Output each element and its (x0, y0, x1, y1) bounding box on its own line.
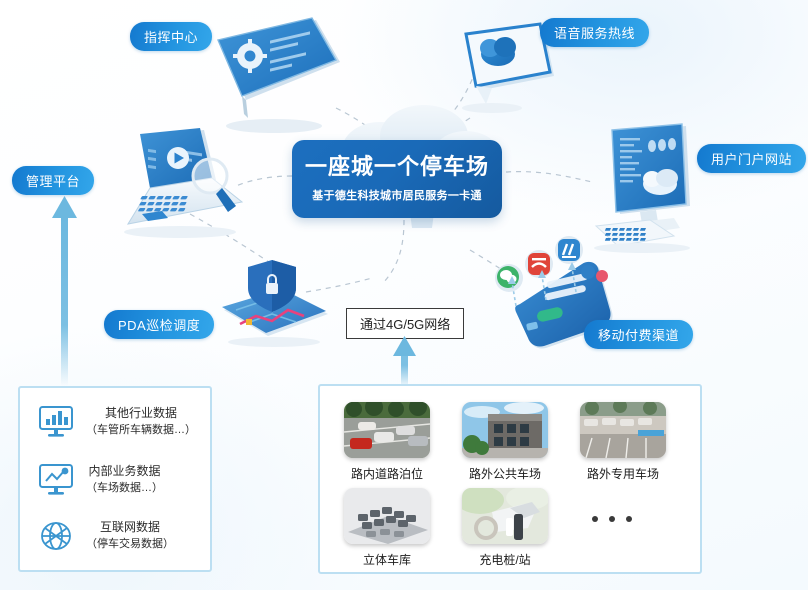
private-lot-photo (580, 402, 666, 458)
scene-caption: 路外公共车场 (462, 465, 548, 482)
laptop-magnifier-device (92, 128, 256, 242)
scene-caption: 路外专用车场 (580, 465, 666, 482)
label-mobile-payment[interactable]: 移动付费渠道 (584, 320, 693, 349)
scene-item[interactable]: 路外公共车场 (462, 402, 548, 482)
scene-caption: 充电桩/站 (462, 551, 548, 568)
scene-item[interactable]: 充电桩/站 (462, 488, 548, 568)
more-scenes-indicator (592, 516, 632, 522)
banner-title: 一座城一个停车场 (305, 155, 489, 179)
shield-lock-map-device (210, 252, 344, 348)
data-source-title: 互联网数据 (100, 519, 160, 536)
label-management-platform[interactable]: 管理平台 (12, 166, 94, 195)
label-command-center[interactable]: 指挥中心 (130, 22, 212, 51)
label-network[interactable]: 通过4G/5G网络 (346, 308, 464, 339)
data-source-title: 其他行业数据 (105, 405, 177, 422)
ev-charger-photo (462, 488, 548, 544)
infographic-canvas: 指挥中心 语音服务热线 管理平台 用户门户网站 PDA巡检调度 移动付费渠道 通… (0, 0, 808, 590)
globe-network-icon (34, 516, 78, 556)
street-parking-photo (344, 402, 430, 458)
data-sources-panel: 其他行业数据 （车管所车辆数据…） 内部业务数据 （车场数据…） (18, 386, 212, 572)
banner-subtitle: 基于德生科技城市居民服务一卡通 (312, 187, 482, 203)
data-source-title: 内部业务数据 (88, 463, 160, 480)
arrow-to-management-platform (50, 196, 80, 386)
phone-to-apps-arrows (490, 240, 610, 320)
data-source-subtitle: （停车交易数据） (86, 537, 174, 553)
label-voice-hotline[interactable]: 语音服务热线 (540, 18, 649, 47)
monitor-line-chart-icon (34, 460, 78, 500)
scene-caption: 立体车库 (344, 551, 430, 568)
label-pda-inspection[interactable]: PDA巡检调度 (104, 310, 214, 339)
data-source-row[interactable]: 互联网数据 （停车交易数据） (34, 516, 174, 556)
scene-caption: 路内道路泊位 (344, 465, 430, 482)
scene-item[interactable]: 立体车库 (344, 488, 430, 568)
data-source-subtitle: （车场数据…） (86, 481, 163, 497)
data-source-subtitle: （车管所车辆数据…） (86, 423, 196, 439)
monitor-bar-chart-icon (34, 402, 78, 442)
parking-scenes-panel: 路内道路泊位 路外公共车场 (318, 384, 702, 574)
stacked-garage-photo (344, 488, 430, 544)
scene-item[interactable]: 路内道路泊位 (344, 402, 430, 482)
gear-screen-device (212, 18, 344, 140)
arrow-to-network-label (391, 336, 419, 388)
public-garage-photo (462, 402, 548, 458)
data-source-row[interactable]: 内部业务数据 （车场数据…） (34, 460, 163, 500)
data-source-row[interactable]: 其他行业数据 （车管所车辆数据…） (34, 402, 196, 442)
center-banner: 一座城一个停车场 基于德生科技城市居民服务一卡通 (292, 140, 502, 218)
desktop-cloud-device (582, 124, 714, 254)
scene-item[interactable]: 路外专用车场 (580, 402, 666, 482)
label-user-portal[interactable]: 用户门户网站 (697, 144, 806, 173)
